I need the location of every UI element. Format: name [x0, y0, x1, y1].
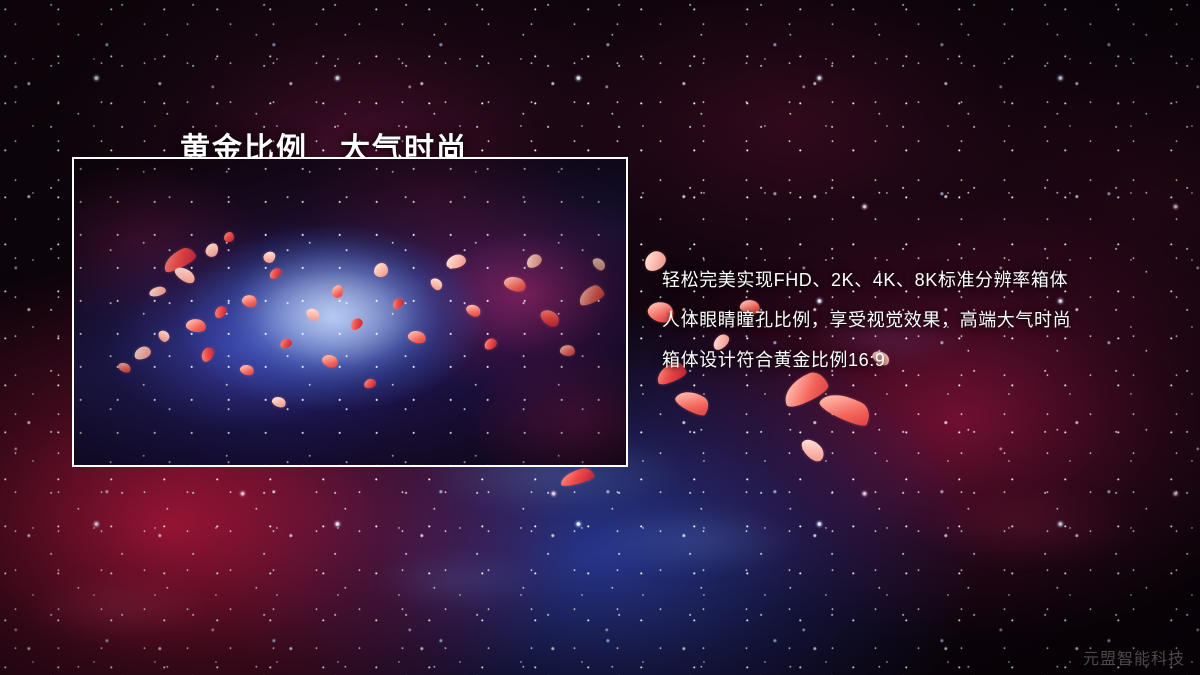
frame-vignette	[74, 159, 626, 465]
body-text-line: 轻松完美实现FHD、2K、4K、8K标准分辨率箱体	[662, 260, 1162, 300]
watermark: 元盟智能科技	[1083, 645, 1185, 669]
flower-petal	[559, 467, 595, 488]
flower-petal	[817, 385, 874, 431]
body-text-line: 人体眼睛瞳孔比例，享受视觉效果，高端大气时尚	[662, 300, 1162, 340]
flower-petal	[798, 435, 827, 465]
flower-petal	[673, 385, 712, 420]
body-text-line: 箱体设计符合黄金比例16:9	[662, 340, 1162, 380]
framed-image	[72, 157, 628, 467]
slide-canvas: 黄金比例 大气时尚 轻松完美实现FHD、2K、4K、8K标准分辨率箱体人体眼睛瞳…	[0, 0, 1200, 675]
body-text-block: 轻松完美实现FHD、2K、4K、8K标准分辨率箱体人体眼睛瞳孔比例，享受视觉效果…	[662, 260, 1162, 380]
